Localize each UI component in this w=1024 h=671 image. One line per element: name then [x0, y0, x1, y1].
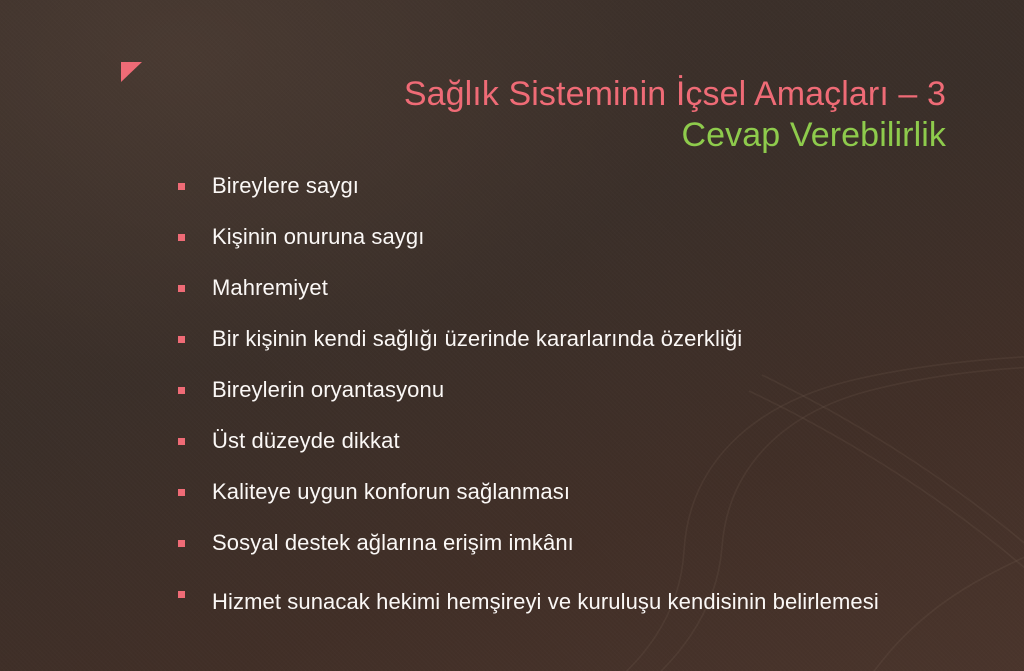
- square-bullet-icon: [178, 489, 185, 496]
- list-item-label: Bireylere saygı: [212, 172, 968, 200]
- list-item-label: Kaliteye uygun konforun sağlanması: [212, 478, 968, 506]
- square-bullet-icon: [178, 591, 185, 598]
- slide-title-block: Sağlık Sisteminin İçsel Amaçları – 3 Cev…: [180, 74, 946, 156]
- square-bullet-icon: [178, 387, 185, 394]
- list-item: Bireylerin oryantasyonu: [178, 376, 968, 404]
- square-bullet-icon: [178, 234, 185, 241]
- list-item-label: Bireylerin oryantasyonu: [212, 376, 968, 404]
- page-subtitle: Cevap Verebilirlik: [180, 115, 946, 156]
- bullet-list: Bireylere saygı Kişinin onuruna saygı Ma…: [178, 172, 968, 647]
- square-bullet-icon: [178, 285, 185, 292]
- list-item: Mahremiyet: [178, 274, 968, 302]
- list-item: Hizmet sunacak hekimi hemşireyi ve kurul…: [178, 580, 968, 624]
- list-item: Sosyal destek ağlarına erişim imkânı: [178, 529, 968, 557]
- list-item: Bir kişinin kendi sağlığı üzerinde karar…: [178, 325, 968, 353]
- triangle-marker-icon: [121, 62, 142, 82]
- list-item-label: Sosyal destek ağlarına erişim imkânı: [212, 529, 968, 557]
- list-item: Kişinin onuruna saygı: [178, 223, 968, 251]
- list-item-label: Kişinin onuruna saygı: [212, 223, 968, 251]
- square-bullet-icon: [178, 336, 185, 343]
- list-item-label: Bir kişinin kendi sağlığı üzerinde karar…: [212, 325, 968, 353]
- square-bullet-icon: [178, 183, 185, 190]
- list-item: Üst düzeyde dikkat: [178, 427, 968, 455]
- square-bullet-icon: [178, 540, 185, 547]
- list-item-label: Mahremiyet: [212, 274, 968, 302]
- page-title: Sağlık Sisteminin İçsel Amaçları – 3: [180, 74, 946, 115]
- list-item: Bireylere saygı: [178, 172, 968, 200]
- list-item: Kaliteye uygun konforun sağlanması: [178, 478, 968, 506]
- list-item-label: Üst düzeyde dikkat: [212, 427, 968, 455]
- list-item-label: Hizmet sunacak hekimi hemşireyi ve kurul…: [212, 580, 968, 624]
- presentation-slide: Sağlık Sisteminin İçsel Amaçları – 3 Cev…: [0, 0, 1024, 671]
- square-bullet-icon: [178, 438, 185, 445]
